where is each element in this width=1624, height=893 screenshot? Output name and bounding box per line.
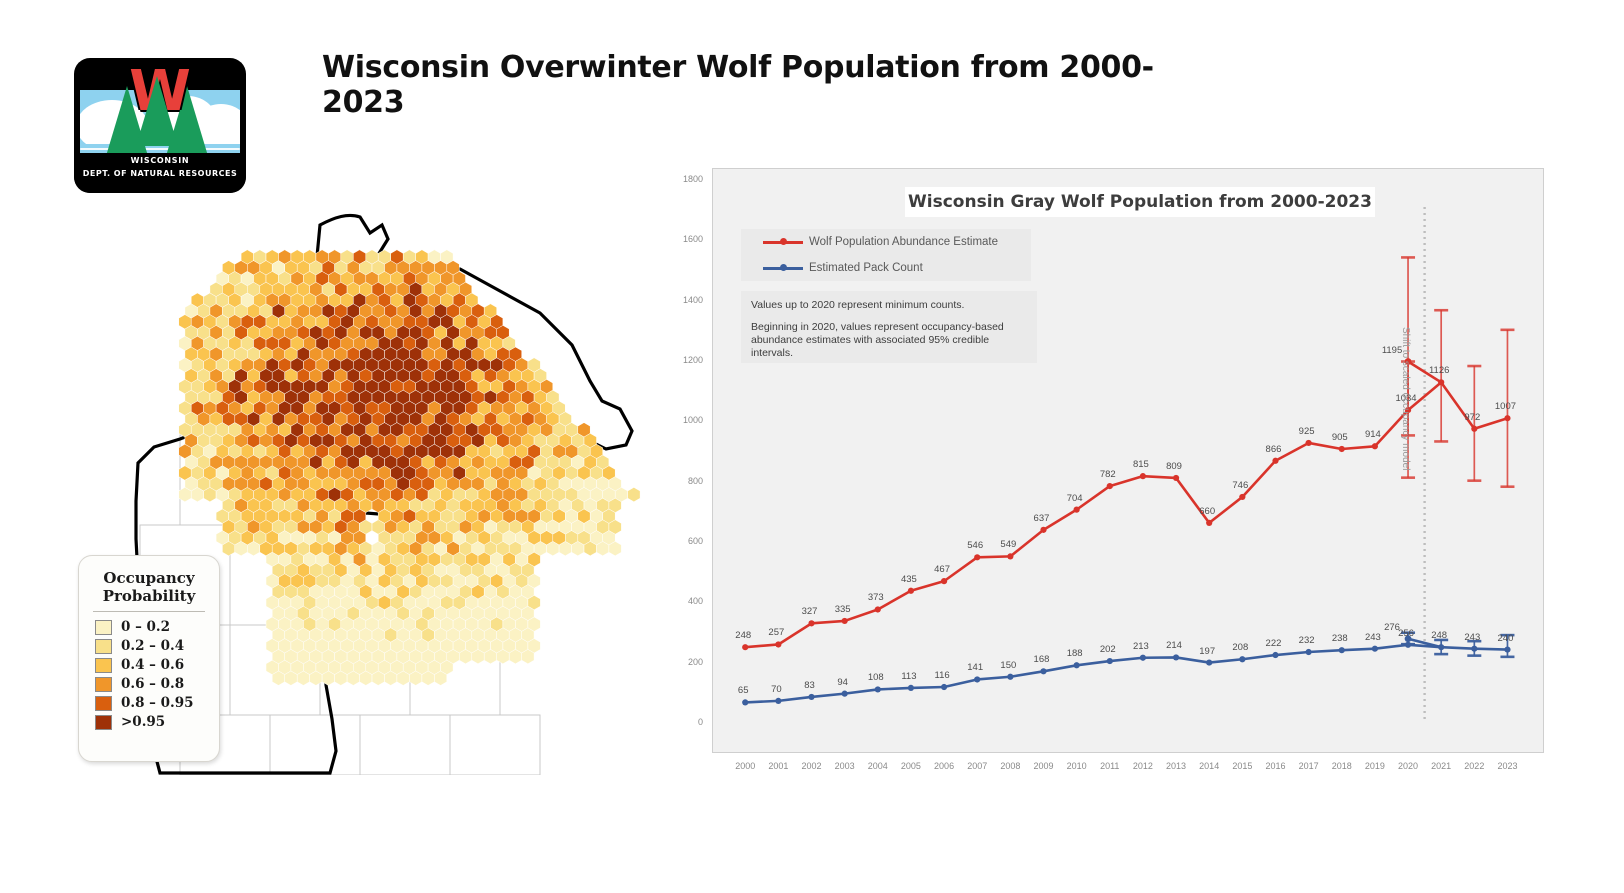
- y-axis-tick: 400: [663, 596, 703, 606]
- map-legend: Occupancy Probability 0 – 0.20.2 – 0.40.…: [78, 555, 220, 762]
- legend-row-0: 0 – 0.2: [95, 619, 219, 635]
- legend-label: 0.4 – 0.6: [121, 657, 184, 673]
- y-axis-tick: 800: [663, 476, 703, 486]
- y-axis-tick: 200: [663, 657, 703, 667]
- x-axis-tick: 2023: [1497, 761, 1517, 771]
- x-axis-tick: 2005: [901, 761, 921, 771]
- y-axis-tick: 1400: [663, 295, 703, 305]
- x-axis-tick: 2012: [1133, 761, 1153, 771]
- legend-swatch: [95, 696, 112, 711]
- x-axis-tick: 2017: [1299, 761, 1319, 771]
- legend-label: 0.8 – 0.95: [121, 695, 194, 711]
- x-axis-tick: 2010: [1067, 761, 1087, 771]
- legend-swatch: [95, 715, 112, 730]
- legend-title-line1: Occupancy: [103, 569, 194, 587]
- x-axis-tick: 2004: [868, 761, 888, 771]
- y-axis-tick: 0: [663, 717, 703, 727]
- legend-label: 0.6 – 0.8: [121, 676, 184, 692]
- legend-title-line2: Probability: [103, 587, 196, 605]
- y-axis-labels: 020040060080010001200140016001800: [659, 169, 703, 752]
- y-axis-tick: 1800: [663, 174, 703, 184]
- legend-swatch: [95, 677, 112, 692]
- x-axis-tick: 2002: [801, 761, 821, 771]
- x-axis-tick: 2019: [1365, 761, 1385, 771]
- x-axis-tick: 2003: [835, 761, 855, 771]
- y-axis-tick: 1000: [663, 415, 703, 425]
- x-axis-tick: 2006: [934, 761, 954, 771]
- page-title: Wisconsin Overwinter Wolf Population fro…: [322, 50, 1222, 120]
- y-axis-tick: 1600: [663, 234, 703, 244]
- x-axis-tick: 2008: [1000, 761, 1020, 771]
- logo-text-band: WISCONSIN DEPT. OF NATURAL RESOURCES: [74, 153, 246, 193]
- legend-label: 0.2 – 0.4: [121, 638, 184, 654]
- wisconsin-dnr-logo: W WISCONSIN DEPT. OF NATURAL RESOURCES: [74, 58, 246, 193]
- legend-row-2: 0.4 – 0.6: [95, 657, 219, 673]
- x-axis-tick: 2007: [967, 761, 987, 771]
- x-axis-tick: 2015: [1232, 761, 1252, 771]
- legend-swatch: [95, 639, 112, 654]
- wolf-population-chart: Wisconsin Gray Wolf Population from 2000…: [712, 168, 1544, 753]
- x-axis-tick: 2016: [1265, 761, 1285, 771]
- legend-items: 0 – 0.20.2 – 0.40.4 – 0.60.6 – 0.80.8 – …: [79, 619, 219, 730]
- chart-plot-area: [713, 169, 1543, 752]
- x-axis-tick: 2011: [1100, 761, 1119, 771]
- x-axis-tick: 2000: [735, 761, 755, 771]
- legend-label: >0.95: [121, 714, 165, 730]
- shift-annotation-label: Shift to scaled occupancy model: [1400, 327, 1411, 470]
- x-axis-tick: 2022: [1464, 761, 1484, 771]
- x-axis-tick: 2020: [1398, 761, 1418, 771]
- x-axis-tick: 2018: [1332, 761, 1352, 771]
- y-axis-tick: 600: [663, 536, 703, 546]
- tree-icon: [136, 76, 178, 146]
- x-axis-tick: 2021: [1431, 761, 1451, 771]
- legend-label: 0 – 0.2: [121, 619, 170, 635]
- x-axis-tick: 2001: [768, 761, 788, 771]
- legend-row-5: >0.95: [95, 714, 219, 730]
- logo-line1: WISCONSIN: [74, 156, 246, 165]
- legend-row-1: 0.2 – 0.4: [95, 638, 219, 654]
- legend-divider: [93, 611, 205, 612]
- logo-line2: DEPT. OF NATURAL RESOURCES: [74, 169, 246, 178]
- x-axis-labels: 2000200120022003200420052006200720082009…: [713, 761, 1543, 781]
- y-axis-tick: 1200: [663, 355, 703, 365]
- legend-row-4: 0.8 – 0.95: [95, 695, 219, 711]
- legend-title: Occupancy Probability: [79, 556, 219, 605]
- x-axis-tick: 2009: [1033, 761, 1053, 771]
- legend-row-3: 0.6 – 0.8: [95, 676, 219, 692]
- legend-swatch: [95, 620, 112, 635]
- legend-swatch: [95, 658, 112, 673]
- x-axis-tick: 2013: [1166, 761, 1186, 771]
- x-axis-tick: 2014: [1199, 761, 1219, 771]
